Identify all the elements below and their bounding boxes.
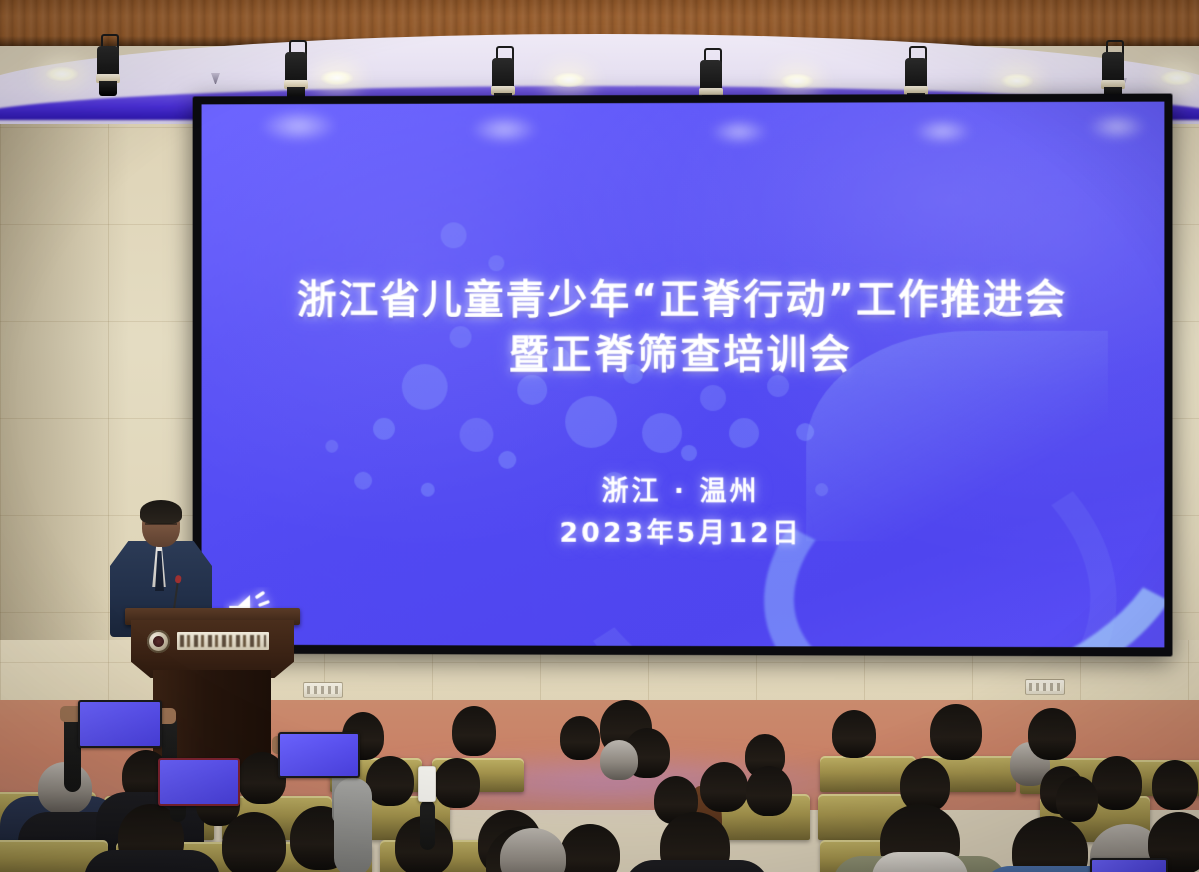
projection-screen-bezel: 浙江省儿童青少年“正脊行动”工作推进会 暨正脊筛查培训会 浙江 · 温州 202… xyxy=(193,94,1173,657)
audience-head xyxy=(560,824,620,872)
projector-hotspot xyxy=(1087,113,1148,141)
decorative-bubble xyxy=(700,385,726,411)
slide-location: 浙江 · 温州 xyxy=(202,471,1165,514)
decorative-bubble xyxy=(680,445,696,461)
decorative-bubble xyxy=(729,418,759,448)
audience-shoulders xyxy=(624,860,770,872)
audience-head xyxy=(746,766,792,816)
slide-title-line2: 暨正脊筛查培训会 xyxy=(202,328,1165,383)
audience-head xyxy=(366,756,414,806)
audience-phone[interactable] xyxy=(158,758,240,806)
stage-spotlight xyxy=(95,34,121,98)
audience-head xyxy=(700,762,748,812)
slide-subtitle: 浙江 · 温州 2023年5月12日 xyxy=(202,471,1165,556)
stage-spotlight xyxy=(283,40,309,104)
audience-phone[interactable] xyxy=(278,732,360,778)
audience-phone[interactable] xyxy=(1090,858,1168,872)
decorative-bubble xyxy=(565,396,617,448)
decorative-bubble xyxy=(488,255,504,271)
audience-collar xyxy=(872,852,968,872)
downlight xyxy=(320,70,354,86)
projector-hotspot xyxy=(469,114,539,144)
downlight xyxy=(780,73,814,89)
audience-area xyxy=(0,700,1199,872)
audience-head xyxy=(452,706,496,756)
downlight xyxy=(1000,73,1034,89)
audience-head xyxy=(1028,708,1076,760)
audience-head xyxy=(222,812,286,872)
audience-head xyxy=(434,758,480,808)
decorative-bubble xyxy=(642,412,682,452)
audience-head xyxy=(560,716,600,760)
audience-shoulders xyxy=(84,850,220,872)
slide-title: 浙江省儿童青少年“正脊行动”工作推进会 暨正脊筛查培训会 xyxy=(202,272,1165,383)
downlight xyxy=(552,72,586,88)
wall-outlet-panel xyxy=(1025,679,1065,695)
downlight xyxy=(45,66,79,82)
audience-arm xyxy=(420,800,435,850)
decorative-bubble xyxy=(460,418,494,452)
audience-head xyxy=(1056,776,1098,822)
audience-phone[interactable] xyxy=(78,700,162,748)
decorative-bubble xyxy=(498,450,516,468)
slide-date: 2023年5月12日 xyxy=(202,512,1165,555)
audience-head xyxy=(1152,760,1198,810)
podium-emblem xyxy=(147,630,170,653)
conference-photo: 浙江省儿童青少年“正脊行动”工作推进会 暨正脊筛查培训会 浙江 · 温州 202… xyxy=(0,0,1199,872)
audience-head xyxy=(600,740,638,780)
audience-head xyxy=(930,704,982,760)
podium-plaque xyxy=(177,632,269,650)
audience-arm xyxy=(334,778,372,872)
wall-outlet-panel xyxy=(303,682,343,698)
audience-phone[interactable] xyxy=(418,766,436,802)
decorative-bubble xyxy=(326,439,339,452)
slide-title-line1: 浙江省儿童青少年“正脊行动”工作推进会 xyxy=(202,272,1165,328)
downlight xyxy=(1160,70,1194,86)
audience-head xyxy=(1092,756,1142,810)
projection-screen[interactable]: 浙江省儿童青少年“正脊行动”工作推进会 暨正脊筛查培训会 浙江 · 温州 202… xyxy=(202,102,1165,648)
audience-head xyxy=(832,710,876,758)
